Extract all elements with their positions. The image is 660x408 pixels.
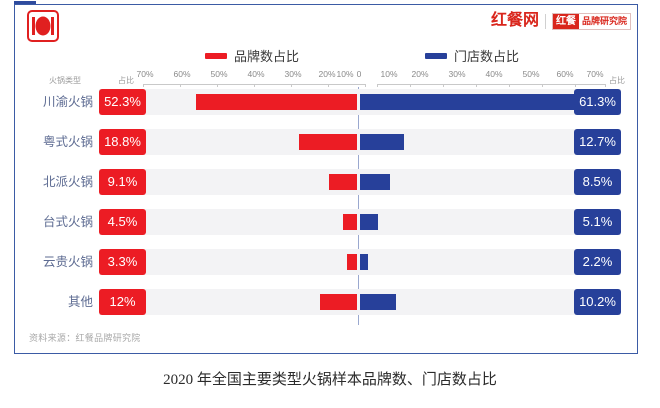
chart-legend: 品牌数占比 门店数占比 bbox=[15, 45, 639, 67]
bar-brand-share bbox=[347, 254, 357, 270]
source-note: 资料来源：红餐品牌研究院 bbox=[29, 331, 141, 344]
axis-category-label: 火锅类型 bbox=[49, 75, 81, 86]
axis-right-unit-label: 占比 bbox=[609, 75, 625, 86]
table-row: 北派火锅 9.1% 8.5% bbox=[15, 169, 639, 195]
axis-tick-right-20: 20% bbox=[411, 69, 428, 79]
axis-tick-right-30: 30% bbox=[448, 69, 465, 79]
row-value-brand-share: 3.3% bbox=[99, 249, 146, 275]
publisher-wordmark: 红餐网 bbox=[491, 12, 539, 30]
table-row: 其他 12% 10.2% bbox=[15, 289, 639, 315]
badge-white-text: 品牌研究院 bbox=[579, 14, 630, 29]
chart-axis: 火锅类型 占比 占比 70% 60% 50% 40% 30% 20% 10% 0… bbox=[15, 67, 639, 89]
axis-tickmark-right-70 bbox=[605, 84, 606, 87]
logo-divider bbox=[545, 14, 546, 29]
legend-swatch-blue-icon bbox=[425, 53, 447, 59]
legend-item-brand-share[interactable]: 品牌数占比 bbox=[205, 46, 299, 65]
axis-tick-left-50: 50% bbox=[210, 69, 227, 79]
legend-item-store-share[interactable]: 门店数占比 bbox=[425, 46, 519, 65]
axis-tickmark-left-10 bbox=[365, 84, 366, 87]
table-row: 川渝火锅 52.3% 61.3% bbox=[15, 89, 639, 115]
axis-tickmark-left-40 bbox=[254, 84, 255, 87]
row-value-store-share: 10.2% bbox=[574, 289, 621, 315]
row-value-brand-share: 9.1% bbox=[99, 169, 146, 195]
row-value-store-share: 8.5% bbox=[574, 169, 621, 195]
axis-tick-right-40: 40% bbox=[485, 69, 502, 79]
row-label-category: 川渝火锅 bbox=[15, 89, 93, 115]
axis-tick-left-70: 70% bbox=[136, 69, 153, 79]
bar-store-share bbox=[360, 174, 390, 190]
row-label-category: 云贵火锅 bbox=[15, 249, 93, 275]
row-value-brand-share: 18.8% bbox=[99, 129, 146, 155]
bar-brand-share bbox=[320, 294, 357, 310]
badge-red-text: 红餐 bbox=[553, 14, 579, 29]
axis-tickmark-right-0 bbox=[377, 84, 378, 87]
axis-tick-left-20: 20% bbox=[318, 69, 335, 79]
axis-tickmark-left-60 bbox=[180, 84, 181, 87]
axis-tickmark-left-20 bbox=[328, 84, 329, 87]
row-label-category: 粤式火锅 bbox=[15, 129, 93, 155]
research-institute-badge: 红餐 品牌研究院 bbox=[552, 13, 631, 30]
row-value-store-share: 61.3% bbox=[574, 89, 621, 115]
row-label-category: 北派火锅 bbox=[15, 169, 93, 195]
row-label-category: 台式火锅 bbox=[15, 209, 93, 235]
axis-tick-right-10: 10% bbox=[380, 69, 397, 79]
row-value-store-share: 12.7% bbox=[574, 129, 621, 155]
bar-brand-share bbox=[299, 134, 357, 150]
bar-store-share bbox=[360, 94, 575, 110]
axis-tick-left-30: 30% bbox=[284, 69, 301, 79]
figure-caption: 2020 年全国主要类型火锅样本品牌数、门店数占比 bbox=[0, 368, 660, 389]
legend-label-brand-share: 品牌数占比 bbox=[234, 46, 299, 65]
row-value-store-share: 2.2% bbox=[574, 249, 621, 275]
axis-tickmark-left-30 bbox=[291, 84, 292, 87]
axis-tick-right-60: 60% bbox=[556, 69, 573, 79]
brand-bracket-right bbox=[51, 17, 54, 35]
bar-brand-share bbox=[343, 214, 357, 230]
legend-label-store-share: 门店数占比 bbox=[454, 46, 519, 65]
axis-tickmark-right-20 bbox=[443, 84, 444, 87]
publisher-logo: 红餐网 红餐 品牌研究院 bbox=[491, 12, 631, 30]
axis-tickmark-right-10 bbox=[410, 84, 411, 87]
axis-tickmark-right-40 bbox=[509, 84, 510, 87]
bar-brand-share bbox=[196, 94, 357, 110]
bar-store-share bbox=[360, 294, 396, 310]
bar-store-share bbox=[360, 134, 404, 150]
axis-left-unit-label: 占比 bbox=[118, 75, 134, 86]
legend-swatch-red-icon bbox=[205, 53, 227, 59]
bar-brand-share bbox=[329, 174, 357, 190]
axis-line-right bbox=[377, 84, 605, 85]
axis-tick-right-70: 70% bbox=[586, 69, 603, 79]
row-value-store-share: 5.1% bbox=[574, 209, 621, 235]
brand-ellipse bbox=[36, 17, 51, 36]
axis-tick-left-60: 60% bbox=[173, 69, 190, 79]
axis-tickmark-right-30 bbox=[476, 84, 477, 87]
row-value-brand-share: 4.5% bbox=[99, 209, 146, 235]
axis-tick-left-40: 40% bbox=[247, 69, 264, 79]
row-value-brand-share: 12% bbox=[99, 289, 146, 315]
table-row: 云贵火锅 3.3% 2.2% bbox=[15, 249, 639, 275]
axis-tickmark-right-60 bbox=[575, 84, 576, 87]
row-label-category: 其他 bbox=[15, 289, 93, 315]
brand-o-mark-icon bbox=[27, 10, 59, 42]
table-row: 粤式火锅 18.8% 12.7% bbox=[15, 129, 639, 155]
table-row: 台式火锅 4.5% 5.1% bbox=[15, 209, 639, 235]
bar-store-share bbox=[360, 214, 378, 230]
axis-tick-left-10: 10% bbox=[336, 69, 353, 79]
bar-store-share bbox=[360, 254, 368, 270]
axis-tickmark-left-50 bbox=[217, 84, 218, 87]
chart-header: 红餐网 红餐 品牌研究院 bbox=[15, 5, 639, 45]
row-value-brand-share: 52.3% bbox=[99, 89, 146, 115]
axis-tick-right-50: 50% bbox=[522, 69, 539, 79]
axis-tickmark-right-50 bbox=[542, 84, 543, 87]
chart-panel: 红餐网 红餐 品牌研究院 品牌数占比 门店数占比 火锅类型 占比 占比 70% … bbox=[14, 4, 638, 354]
axis-tick-center-zero: 0 bbox=[357, 69, 362, 79]
chart-plot-area: 川渝火锅 52.3% 61.3% 粤式火锅 18.8% 12.7% 北派火锅 9… bbox=[15, 89, 639, 325]
axis-tickmark-left-70 bbox=[143, 84, 144, 87]
